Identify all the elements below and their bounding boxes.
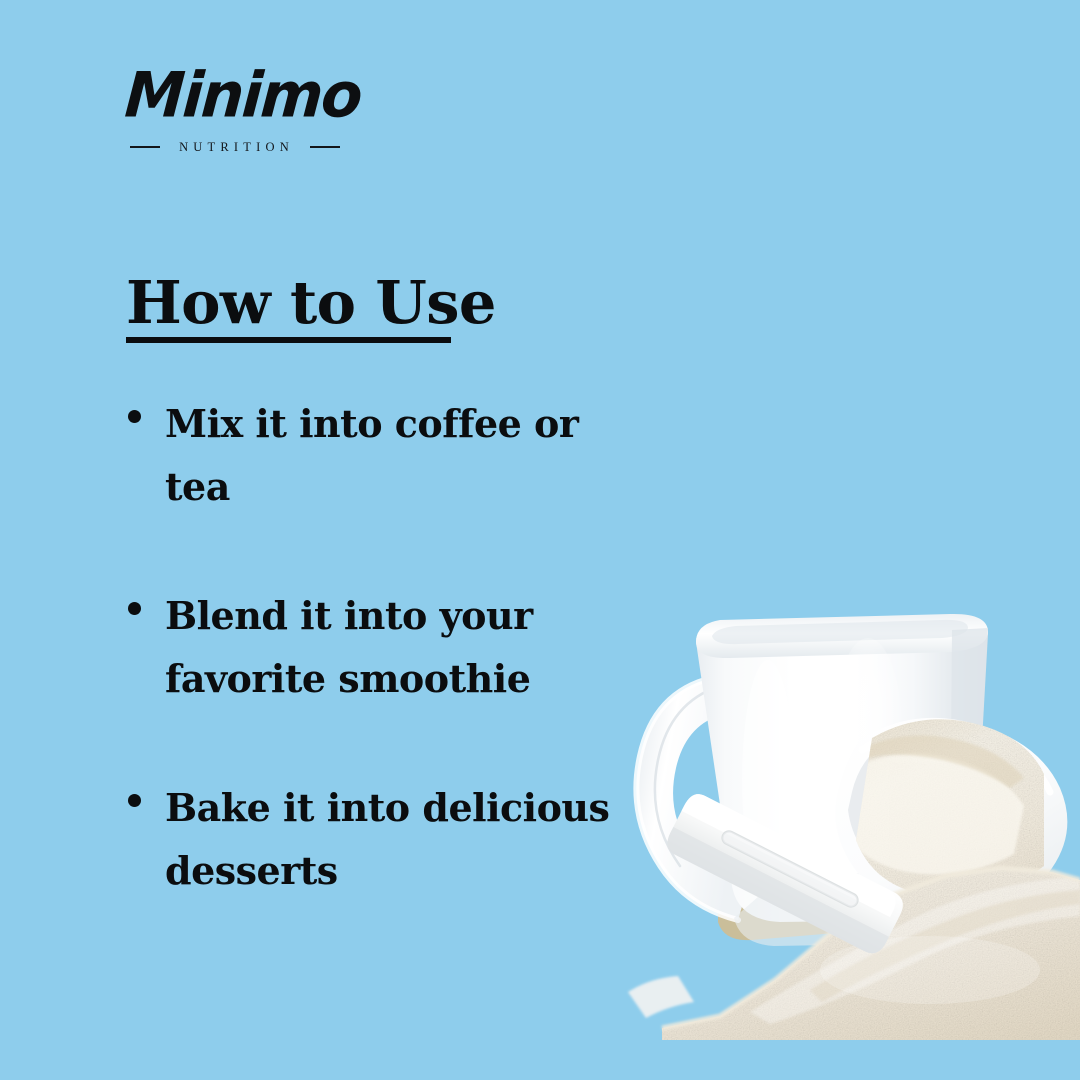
bullet-dot-icon (128, 410, 141, 423)
scoop-handle-tip (628, 976, 694, 1018)
list-item: Mix it into coffee or tea (126, 392, 646, 518)
title-underline (126, 337, 451, 343)
product-photo (600, 560, 1080, 1080)
brand-tagline-row: NUTRITION (130, 136, 340, 158)
bullet-dot-icon (128, 602, 141, 615)
brand-logo: Minimo NUTRITION (126, 56, 456, 161)
instructions-list: Mix it into coffee or tea Blend it into … (126, 392, 646, 902)
brand-name: Minimo (122, 56, 363, 135)
list-item-label: Bake it into delicious desserts (165, 776, 646, 902)
brand-tagline: NUTRITION (176, 140, 294, 155)
page-title: How to Use (126, 272, 686, 334)
dash-rule-left-icon (130, 146, 160, 148)
page-title-block: How to Use (126, 272, 686, 343)
list-item: Blend it into your favorite smoothie (126, 584, 646, 710)
list-item: Bake it into delicious desserts (126, 776, 646, 902)
bullet-dot-icon (128, 794, 141, 807)
list-item-label: Mix it into coffee or tea (165, 392, 646, 518)
list-item-label: Blend it into your favorite smoothie (165, 584, 646, 710)
dash-rule-right-icon (310, 146, 340, 148)
poster-canvas: Minimo NUTRITION How to Use Mix it into … (0, 0, 1080, 1080)
